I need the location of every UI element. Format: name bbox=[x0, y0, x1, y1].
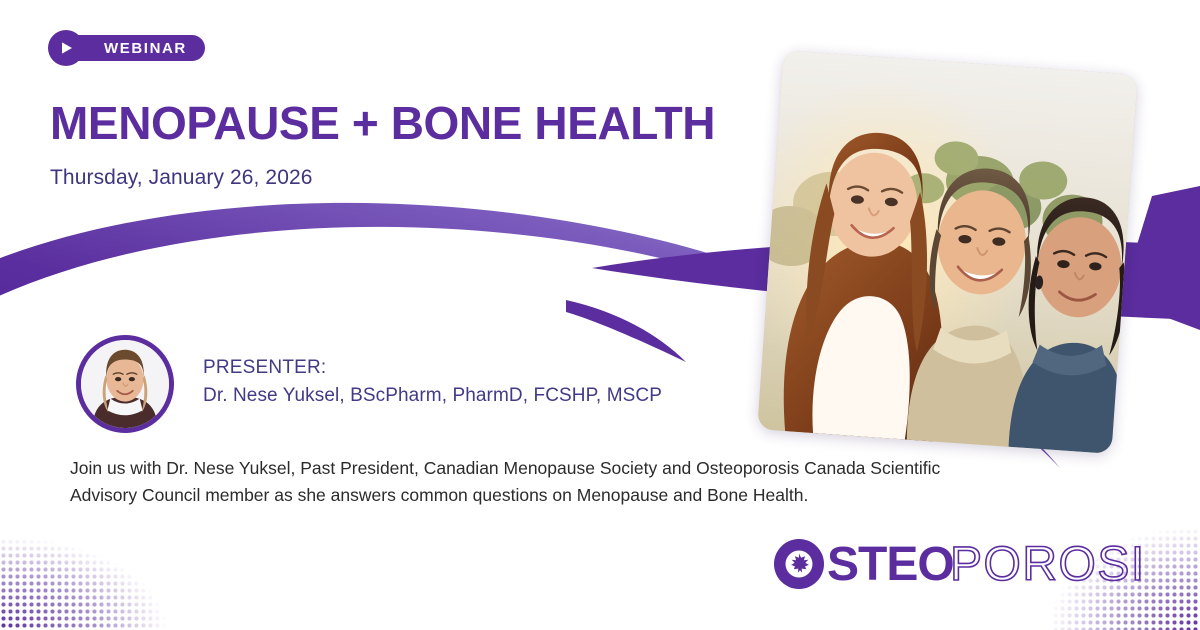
page-title: MENOPAUSE + BONE HEALTH bbox=[50, 100, 750, 147]
presenter-block: PRESENTER: Dr. Nese Yuksel, BScPharm, Ph… bbox=[203, 354, 662, 409]
webinar-badge-pill: WEBINAR bbox=[66, 35, 205, 61]
play-icon bbox=[48, 30, 84, 66]
presenter-name: Dr. Nese Yuksel, BScPharm, PharmD, FCSHP… bbox=[203, 382, 662, 410]
halftone-dots-bottom-left bbox=[0, 510, 215, 630]
event-description: Join us with Dr. Nese Yuksel, Past Presi… bbox=[70, 455, 950, 508]
webinar-badge-label: WEBINAR bbox=[104, 41, 187, 56]
osteoporosis-canada-logo: STEO POROSIS OSTEOPOROSIS bbox=[772, 530, 1142, 594]
presenter-label: PRESENTER: bbox=[203, 354, 662, 382]
webinar-promo-banner: WEBINAR MENOPAUSE + BONE HEALTH Thursday… bbox=[0, 0, 1200, 630]
event-date: Thursday, January 26, 2026 bbox=[50, 166, 313, 190]
svg-text:STEO: STEO bbox=[827, 538, 954, 591]
wave-sliver-lower bbox=[566, 300, 686, 362]
maple-leaf-icon bbox=[774, 539, 824, 589]
avatar bbox=[76, 335, 174, 433]
svg-text:POROSIS: POROSIS bbox=[950, 538, 1142, 591]
webinar-badge: WEBINAR bbox=[48, 30, 205, 66]
hero-photo bbox=[757, 50, 1138, 454]
